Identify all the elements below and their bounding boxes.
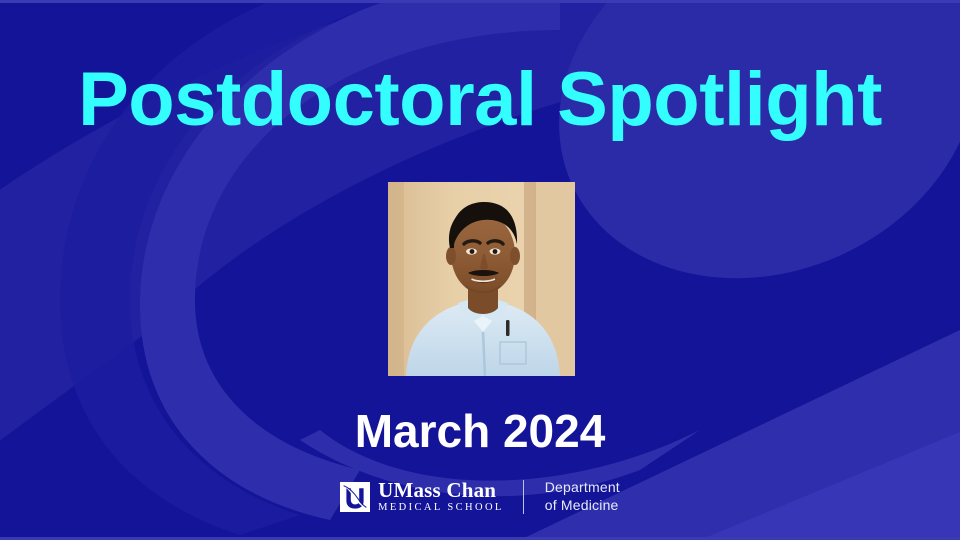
logo-lockup: UMass Chan MEDICAL SCHOOL Department of … (0, 479, 960, 514)
logo-department-line-2: of Medicine (545, 497, 620, 515)
portrait-photo (388, 182, 575, 376)
logo-department-line-1: Department (545, 479, 620, 497)
logo-department: Department of Medicine (545, 479, 620, 514)
logo-name-line-2: MEDICAL SCHOOL (378, 503, 504, 514)
portrait-photo-image (388, 182, 575, 376)
logo-wordmark: UMass Chan MEDICAL SCHOOL (378, 480, 504, 514)
page-title: Postdoctoral Spotlight (0, 62, 960, 138)
date-text: March 2024 (0, 406, 960, 457)
slide-canvas: Postdoctoral Spotlight (0, 0, 960, 540)
umass-chan-u-mark-icon (340, 482, 370, 512)
logo-divider (523, 480, 524, 514)
logo-name-line-1: UMass Chan (378, 480, 504, 501)
